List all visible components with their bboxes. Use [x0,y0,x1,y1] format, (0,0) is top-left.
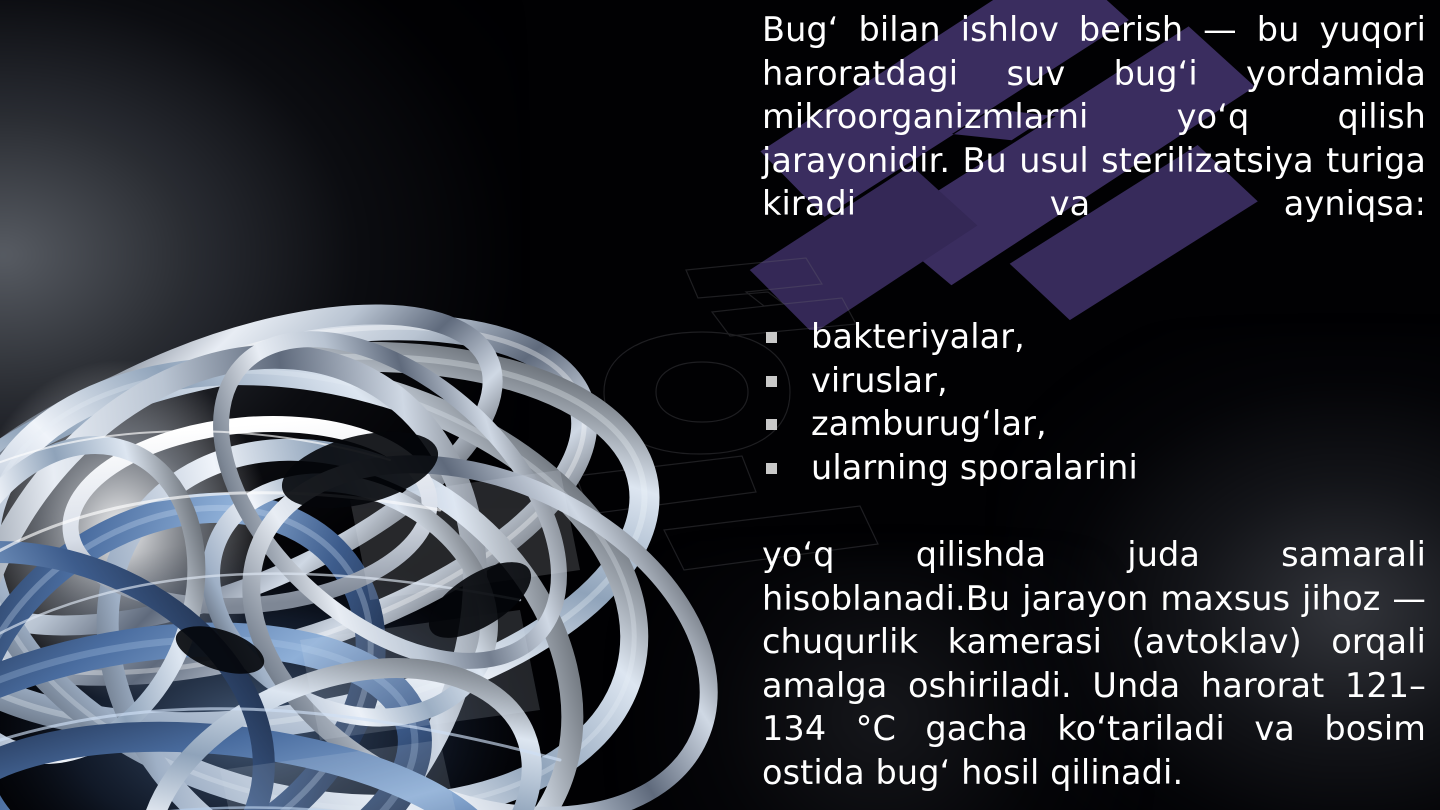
list-item: viruslar, [762,359,1426,403]
list-item: bakteriyalar, [762,315,1426,359]
list-item-label: zamburug‘lar, [811,404,1047,443]
list-item-label: viruslar, [811,361,948,400]
spacer-after-list [762,489,1426,533]
bullet-square-icon [766,419,777,430]
paragraph-details: yo‘q qilishda juda samarali hisoblanadi.… [762,533,1426,794]
bullet-list: bakteriyalar, viruslar, zamburug‘lar, ul… [762,315,1426,489]
list-item: ularning sporalarini [762,446,1426,490]
list-item-label: bakteriyalar, [811,317,1025,356]
spacer-after-intro [762,269,1426,315]
bullet-square-icon [766,463,777,474]
bullet-square-icon [766,332,777,343]
slide-body-text: Bug‘ bilan ishlov berish — bu yuqori har… [762,8,1426,794]
list-item-label: ularning sporalarini [811,448,1138,487]
list-item: zamburug‘lar, [762,402,1426,446]
paragraph-intro: Bug‘ bilan ishlov berish — bu yuqori har… [762,8,1426,269]
bullet-square-icon [766,376,777,387]
glass-spiral-render [0,170,820,810]
presentation-slide: Bug‘ bilan ishlov berish — bu yuqori har… [0,0,1440,810]
